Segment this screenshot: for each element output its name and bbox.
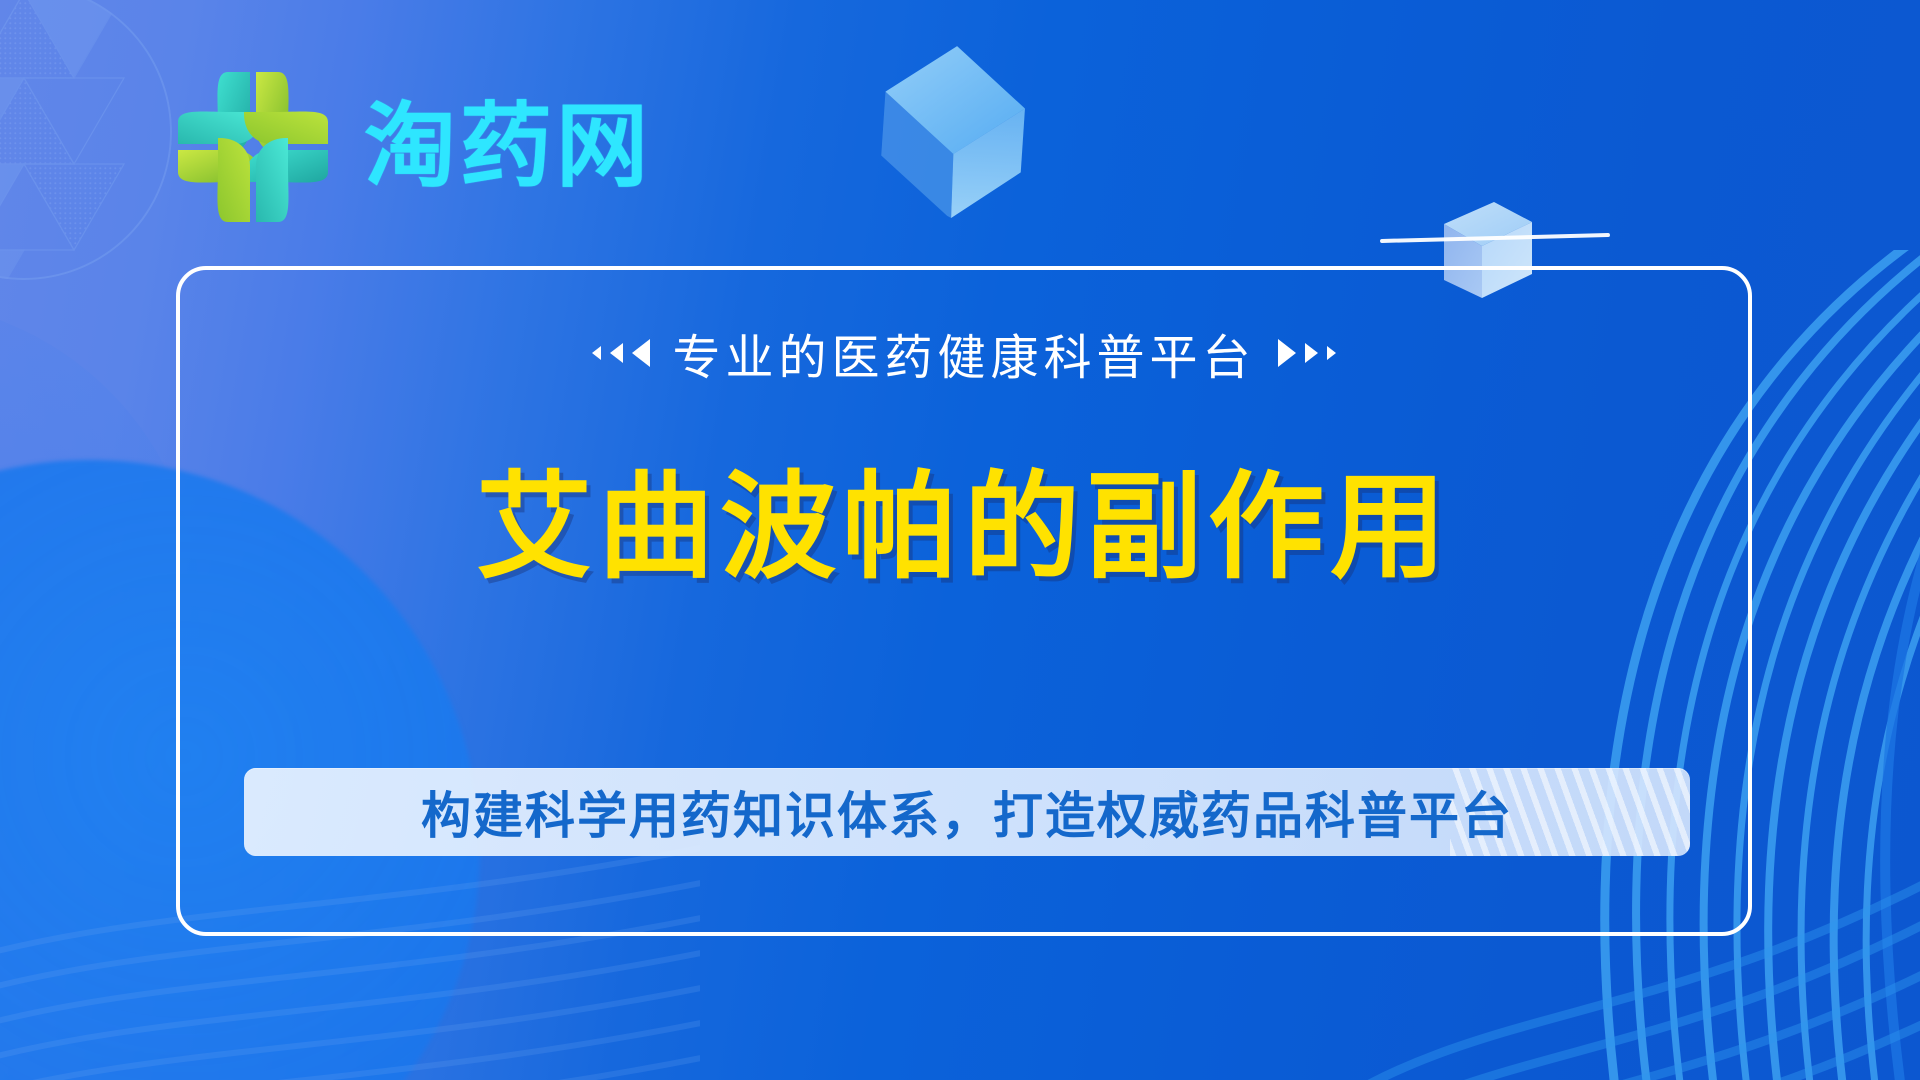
brand-logo[interactable]: 淘药网 bbox=[168, 62, 652, 232]
triangle-right-small-icon bbox=[1327, 346, 1336, 360]
triangle-left-medium-icon bbox=[610, 343, 623, 363]
eyebrow-text: 专业的医药健康科普平台 bbox=[672, 318, 1255, 388]
brand-name: 淘药网 bbox=[364, 101, 652, 193]
right-arrows-group bbox=[1278, 339, 1336, 367]
triangle-right-large-icon bbox=[1278, 339, 1296, 367]
triangle-left-small-icon bbox=[592, 346, 601, 360]
poster-canvas: 淘药网 专业的医药健康科普平台 艾曲波帕的副作用 构建科学用药知识体系，打造权威… bbox=[0, 0, 1920, 1080]
left-arrows-group bbox=[592, 339, 650, 367]
eyebrow-row: 专业的医药健康科普平台 bbox=[180, 318, 1748, 388]
triangle-left-large-icon bbox=[632, 339, 650, 367]
tagline-bar: 构建科学用药知识体系，打造权威药品科普平台 bbox=[244, 768, 1690, 856]
tagline-text: 构建科学用药知识体系，打造权威药品科普平台 bbox=[421, 776, 1513, 848]
triangle-mesh-circle-icon bbox=[0, 0, 184, 282]
open-cube-icon bbox=[858, 27, 1045, 243]
page-title: 艾曲波帕的副作用 bbox=[180, 470, 1748, 586]
triangle-right-medium-icon bbox=[1305, 343, 1318, 363]
medical-cross-pinwheel-icon bbox=[168, 62, 338, 232]
